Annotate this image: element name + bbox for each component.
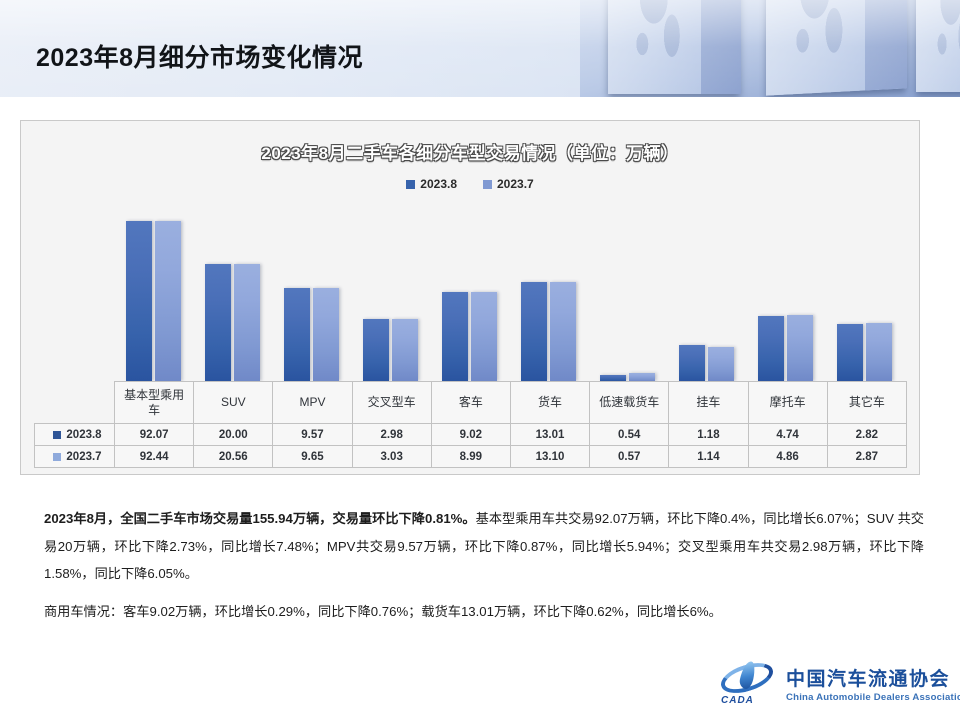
table-cell: 3.03	[352, 446, 431, 468]
bar-group	[114, 209, 193, 381]
table-cell: 0.54	[590, 424, 669, 446]
bar-group	[193, 209, 272, 381]
table-column-header: MPV	[273, 382, 352, 424]
table-cell: 2.87	[827, 446, 906, 468]
chart-title: 2023年8月二手车各细分车型交易情况（单位：万辆）	[21, 139, 919, 164]
page-title: 2023年8月细分市场变化情况	[36, 38, 363, 74]
bar-2023.7-低速载货车	[629, 373, 655, 381]
table-cell: 20.56	[194, 446, 273, 468]
legend-label-series2: 2023.7	[497, 177, 534, 191]
bar-group	[351, 209, 430, 381]
legend-swatch-series1	[406, 180, 415, 189]
bar-group	[746, 209, 825, 381]
chart-data-table: 基本型乘用车SUVMPV交叉型车客车货车低速载货车挂车摩托车其它车 2023.8…	[34, 381, 907, 468]
summary-paragraph-2: 商用车情况：客车9.02万辆，环比增长0.29%，同比下降0.76%；载货车13…	[44, 598, 924, 626]
bar-group	[272, 209, 351, 381]
table-cell: 9.65	[273, 446, 352, 468]
table-cell: 0.57	[590, 446, 669, 468]
slide-header: 2023年8月细分市场变化情况	[0, 0, 960, 97]
table-cell: 92.07	[115, 424, 194, 446]
table-corner-cell	[35, 382, 115, 424]
bar-2023.7-货车	[550, 282, 576, 381]
logo-text-block: 中国汽车流通协会 China Automobile Dealers Associ…	[786, 664, 960, 703]
table-column-header: 低速载货车	[590, 382, 669, 424]
table-cell: 2.82	[827, 424, 906, 446]
table-row-label: 2023.7	[35, 446, 115, 468]
cada-emblem-icon: CADA	[718, 660, 778, 706]
bar-2023.8-其它车	[837, 324, 863, 381]
table-column-header: 客车	[431, 382, 510, 424]
table-row: 2023.792.4420.569.653.038.9913.100.571.1…	[35, 446, 907, 468]
bar-2023.7-客车	[471, 292, 497, 381]
table-header-row: 基本型乘用车SUVMPV交叉型车客车货车低速载货车挂车摩托车其它车	[35, 382, 907, 424]
table-cell: 9.02	[431, 424, 510, 446]
table-column-header: 摩托车	[748, 382, 827, 424]
bar-2023.7-交叉型车	[392, 319, 418, 381]
table-column-header: 其它车	[827, 382, 906, 424]
cube-graphic-1	[608, 0, 740, 94]
legend-item-series1: 2023.8	[406, 177, 457, 191]
table-cell: 9.57	[273, 424, 352, 446]
bar-2023.8-MPV	[284, 288, 310, 381]
bar-2023.7-其它车	[866, 323, 892, 381]
table-cell: 8.99	[431, 446, 510, 468]
world-map-texture	[621, 0, 703, 79]
table-cell: 4.86	[748, 446, 827, 468]
table-column-header: SUV	[194, 382, 273, 424]
bar-2023.7-摩托车	[787, 315, 813, 381]
bar-group	[430, 209, 509, 381]
summary-text: 2023年8月，全国二手车市场交易量155.94万辆，交易量环比下降0.81%。…	[44, 505, 924, 636]
bar-2023.7-基本型乘用车	[155, 221, 181, 381]
bar-2023.7-挂车	[708, 347, 734, 381]
bar-2023.8-挂车	[679, 345, 705, 381]
bar-group	[825, 209, 904, 381]
bar-2023.8-客车	[442, 292, 468, 381]
world-map-texture	[926, 0, 960, 77]
table-cell: 20.00	[194, 424, 273, 446]
legend-swatch-series2	[483, 180, 492, 189]
summary-paragraph-1: 2023年8月，全国二手车市场交易量155.94万辆，交易量环比下降0.81%。…	[44, 505, 924, 588]
bar-2023.8-货车	[521, 282, 547, 381]
cada-logo: CADA 中国汽车流通协会 China Automobile Dealers A…	[718, 657, 943, 709]
bar-group	[588, 209, 667, 381]
cube-graphic-2	[766, 0, 906, 96]
chart-panel: 2023年8月二手车各细分车型交易情况（单位：万辆） 2023.8 2023.7…	[20, 120, 920, 475]
table-cell: 1.14	[669, 446, 748, 468]
cube-graphic-3	[916, 0, 960, 92]
table-column-header: 货车	[510, 382, 589, 424]
bar-2023.7-SUV	[234, 264, 260, 381]
table-cell: 2.98	[352, 424, 431, 446]
world-map-texture	[780, 0, 867, 79]
table-row: 2023.892.0720.009.572.989.0213.010.541.1…	[35, 424, 907, 446]
table-column-header: 基本型乘用车	[115, 382, 194, 424]
table-body: 2023.892.0720.009.572.989.0213.010.541.1…	[35, 424, 907, 468]
logo-name-cn: 中国汽车流通协会	[786, 664, 960, 691]
series-swatch-icon	[53, 453, 61, 461]
series-swatch-icon	[53, 431, 61, 439]
bar-2023.8-摩托车	[758, 316, 784, 381]
table-cell: 1.18	[669, 424, 748, 446]
table-cell: 13.01	[510, 424, 589, 446]
legend-label-series1: 2023.8	[420, 177, 457, 191]
chart-legend: 2023.8 2023.7	[21, 177, 919, 191]
summary-lead: 2023年8月，全国二手车市场交易量155.94万辆，交易量环比下降0.81%。	[44, 511, 476, 526]
table-cell: 13.10	[510, 446, 589, 468]
bar-group	[667, 209, 746, 381]
cada-abbr-text: CADA	[721, 695, 754, 706]
header-cube-artwork	[580, 0, 960, 97]
cube-side-face	[865, 0, 907, 90]
table-column-header: 挂车	[669, 382, 748, 424]
table-row-label: 2023.8	[35, 424, 115, 446]
bar-2023.8-交叉型车	[363, 319, 389, 381]
table-column-header: 交叉型车	[352, 382, 431, 424]
table-cell: 92.44	[115, 446, 194, 468]
bar-group	[509, 209, 588, 381]
bar-2023.8-基本型乘用车	[126, 221, 152, 381]
bar-2023.8-SUV	[205, 264, 231, 381]
chart-plot-area	[114, 209, 904, 381]
table-cell: 4.74	[748, 424, 827, 446]
logo-name-en: China Automobile Dealers Association	[786, 692, 960, 703]
cube-side-face	[701, 0, 741, 94]
bar-2023.7-MPV	[313, 288, 339, 381]
legend-item-series2: 2023.7	[483, 177, 534, 191]
